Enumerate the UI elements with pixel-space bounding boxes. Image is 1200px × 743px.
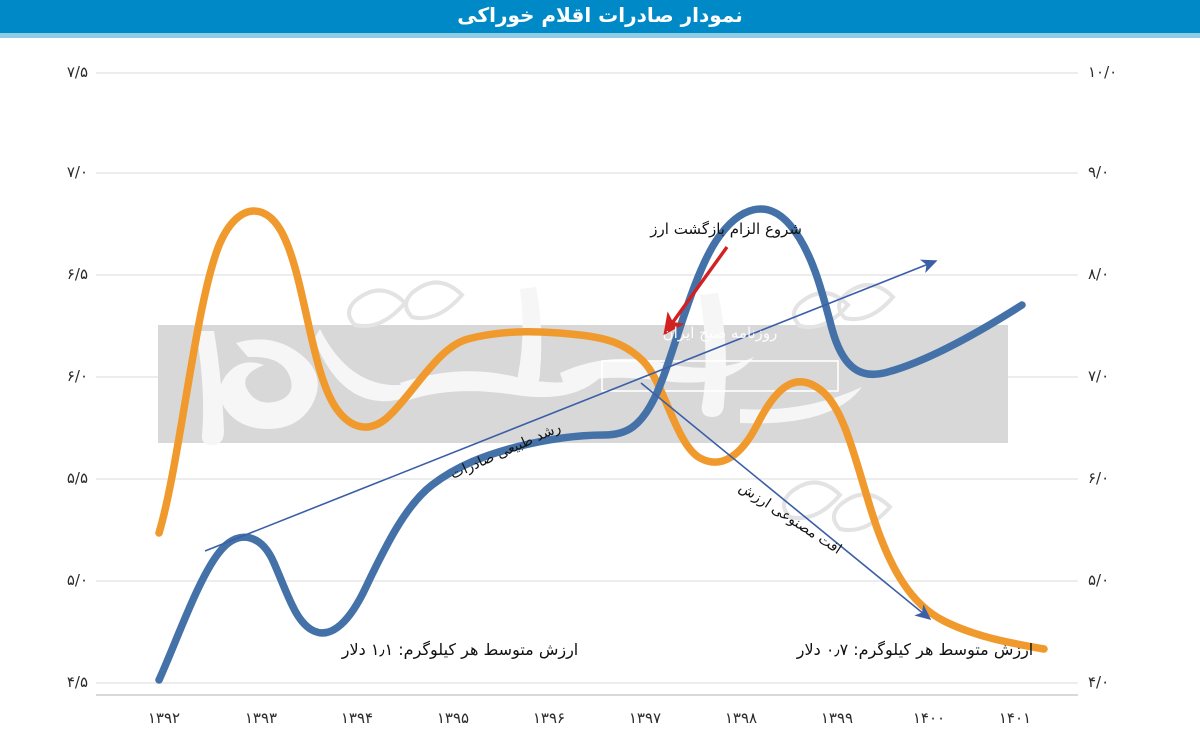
right-axis-tick-0: ۱۰/۰	[1088, 63, 1148, 81]
left-axis-tick-4: ۵/۵	[28, 469, 88, 487]
right-axis-tick-3: ۷/۰	[1088, 367, 1148, 385]
x-axis-tick-1394: ۱۳۹۴	[322, 709, 392, 727]
note-average-value-left: ارزش متوسط هر کیلوگرم: ۱٫۱ دلار	[330, 640, 590, 659]
watermark-tagline: روزنامه صبح ایران	[605, 324, 835, 342]
note-average-value-right: ارزش متوسط هر کیلوگرم: ۰٫۷ دلار	[780, 640, 1050, 659]
left-axis-tick-5: ۵/۰	[28, 571, 88, 589]
series-tonnage-line	[159, 209, 1022, 680]
x-axis-tick-1396: ۱۳۹۶	[514, 709, 584, 727]
annotation-policy: شروع الزام بازگشت ارز	[632, 220, 802, 238]
x-axis-tick-1395: ۱۳۹۵	[418, 709, 488, 727]
left-axis-tick-2: ۶/۵	[28, 265, 88, 283]
title-bar: نمودار صادرات اقلام خوراکی	[0, 0, 1200, 38]
x-axis-tick-1392: ۱۳۹۲	[129, 709, 199, 727]
right-axis-tick-4: ۶/۰	[1088, 469, 1148, 487]
x-axis-tick-1399: ۱۳۹۹	[802, 709, 872, 727]
x-axis-tick-1397: ۱۳۹۷	[610, 709, 680, 727]
x-axis-tick-1398: ۱۳۹۸	[706, 709, 776, 727]
watermark	[158, 282, 1008, 530]
x-axis-tick-1400: ۱۴۰۰	[894, 709, 964, 727]
chart-canvas	[0, 43, 1200, 743]
right-axis-tick-1: ۹/۰	[1088, 163, 1148, 181]
page-title: نمودار صادرات اقلام خوراکی	[0, 3, 1200, 27]
x-axis-tick-1393: ۱۳۹۳	[226, 709, 296, 727]
left-axis-tick-3: ۶/۰	[28, 367, 88, 385]
left-axis-tick-0: ۷/۵	[28, 63, 88, 81]
left-axis-tick-6: ۴/۵	[28, 673, 88, 691]
left-axis-tick-1: ۷/۰	[28, 163, 88, 181]
chart-plot-area: ۷/۵ ۷/۰ ۶/۵ ۶/۰ ۵/۵ ۵/۰ ۴/۵ ۱۰/۰ ۹/۰ ۸/۰…	[0, 43, 1200, 743]
chart-page: نمودار صادرات اقلام خوراکی	[0, 0, 1200, 743]
right-axis-tick-5: ۵/۰	[1088, 571, 1148, 589]
right-axis-tick-2: ۸/۰	[1088, 265, 1148, 283]
right-axis-tick-6: ۴/۰	[1088, 673, 1148, 691]
x-axis-tick-1401: ۱۴۰۱	[980, 709, 1050, 727]
